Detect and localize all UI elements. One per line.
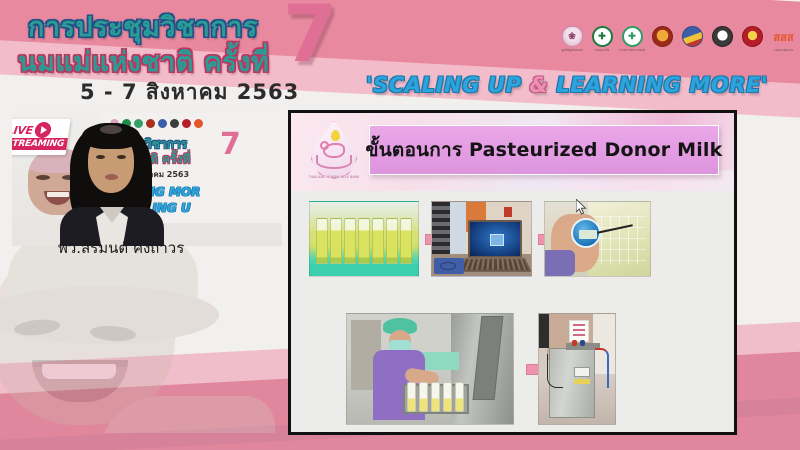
human-milk-bank-drop-icon: THAILAND HUMAN MILK BANK (303, 119, 365, 187)
presentation-screen: การประชุมวิชาการ นมแม่แห่งชาติ ครั้งที่ … (0, 0, 800, 450)
live-label: LIVE (12, 124, 34, 137)
photo-nurse-loading-bottles (346, 313, 514, 425)
sponsor-logo-strip: ❀มูลนิธิศูนย์นมแม่ ✚กรมอนามัย ✚กระทรวงสา… (560, 26, 797, 56)
conference-tagline: 'SCALING UP & LEARNING MORE' (366, 73, 768, 97)
tagline-part-1: 'SCALING UP (366, 73, 530, 97)
nursing-council-logo (740, 26, 764, 56)
university-seal-logo (650, 26, 674, 56)
slide-title: ขั้นตอนการ Pasteurized Donor Milk (366, 135, 723, 165)
live-streaming-badge: LIVE STREAMING (12, 119, 71, 155)
live-video-panel[interactable]: การประชุมวิชาการ นมแม่แห่งชาติ ครั้งที่ … (12, 111, 282, 246)
live-badge-row: LIVE (12, 122, 52, 138)
tagline-part-2: LEARNING MORE' (548, 73, 768, 97)
ministry-health-logo: ✚กรมอนามัย (590, 26, 614, 56)
photo-laptop-workstation (431, 201, 532, 277)
backdrop-edition-number: 7 (220, 130, 241, 160)
thaihealth-sss-logo: สสส THAI HEALTH (770, 26, 797, 56)
department-health-logo: ✚กระทรวงสาธารณสุข (620, 26, 644, 56)
streaming-label: STREAMING (12, 138, 70, 150)
royal-patronage-logo: ❀มูลนิธิศูนย์นมแม่ (560, 26, 584, 56)
process-row-1 (309, 201, 651, 277)
royal-college-logo (680, 26, 704, 56)
mahidol-seal-logo (710, 26, 734, 56)
slide-panel[interactable]: THAILAND HUMAN MILK BANK ขั้นตอนการ Past… (288, 110, 737, 435)
conference-edition-number: 7 (283, 0, 337, 74)
speaker-name-caption: พว.สิริมนต์ คงถาวร (58, 236, 184, 260)
photo-hand-thermometer (544, 201, 651, 277)
conference-date: 5 - 7 สิงหาคม 2563 (80, 76, 299, 109)
drop-logo-caption: THAILAND HUMAN MILK BANK (305, 175, 363, 179)
play-icon (34, 122, 52, 138)
photo-milk-bottles-rack (309, 201, 419, 277)
process-row-2 (346, 313, 616, 425)
slide-title-banner: ขั้นตอนการ Pasteurized Donor Milk (369, 125, 719, 175)
photo-pasteurizer-machine (538, 313, 616, 425)
tagline-ampersand: & (530, 73, 549, 97)
